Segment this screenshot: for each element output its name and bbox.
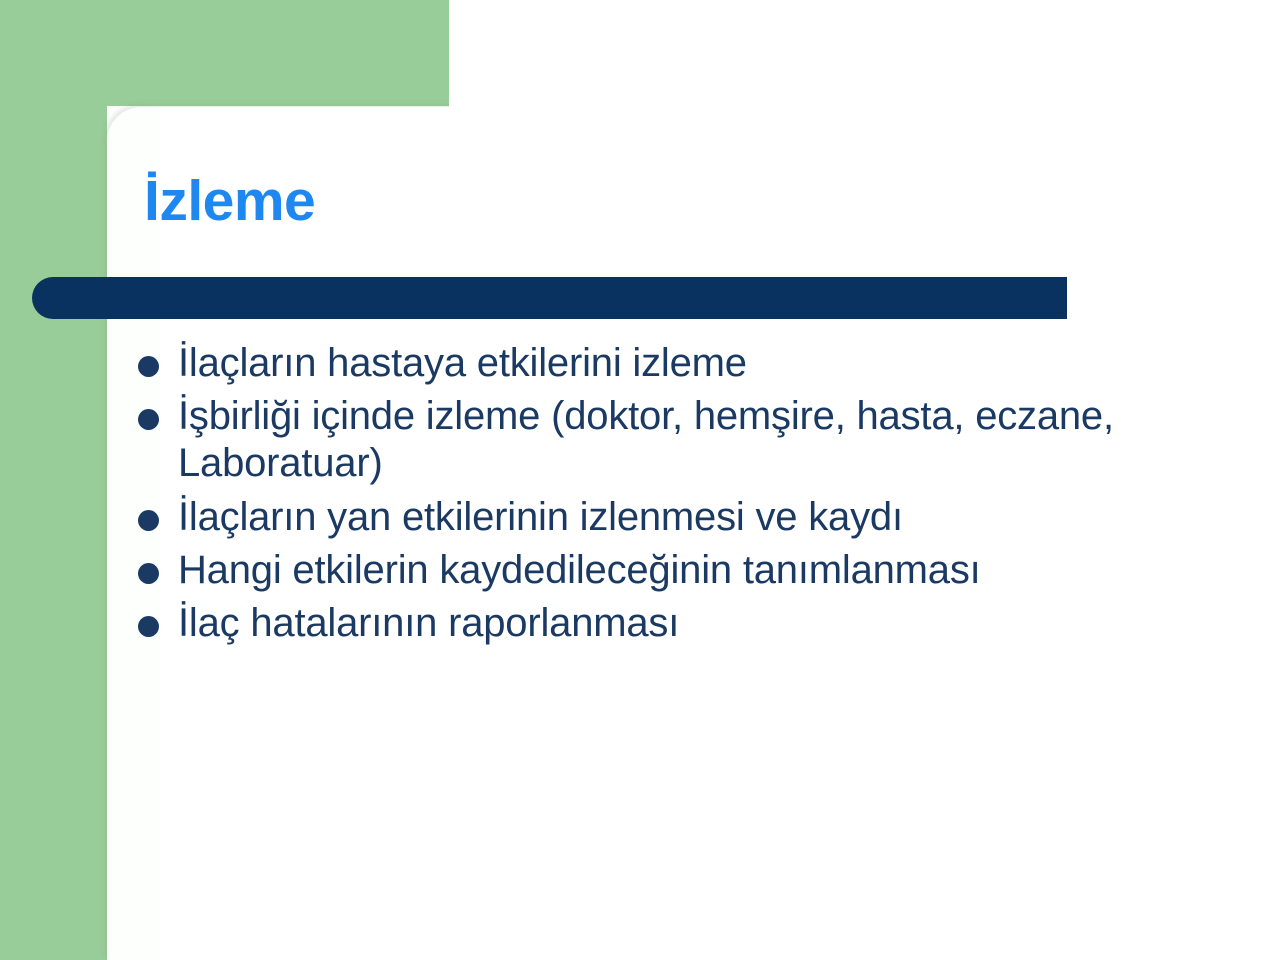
panel-top-right-fill bbox=[449, 0, 1280, 110]
list-item-label: İlaçların hastaya etkilerini izleme bbox=[178, 340, 1250, 387]
list-item-label: İlaç hatalarının raporlanması bbox=[178, 600, 1250, 647]
bullet-dot-icon bbox=[138, 409, 159, 430]
bullet-dot-icon bbox=[138, 510, 159, 531]
list-item: İlaçların hastaya etkilerini izleme bbox=[130, 340, 1250, 387]
list-item-label: İlaçların yan etkilerinin izlenmesi ve k… bbox=[178, 494, 1250, 541]
list-item-label: Hangi etkilerin kaydedileceğinin tanımla… bbox=[178, 547, 1233, 594]
left-green-accent-panel bbox=[0, 0, 107, 960]
slide-title: İzleme bbox=[144, 172, 315, 232]
title-divider-bar bbox=[32, 277, 1067, 319]
bullet-dot-icon bbox=[138, 563, 159, 584]
list-item: Hangi etkilerin kaydedileceğinin tanımla… bbox=[130, 547, 1250, 594]
presentation-slide: İzleme İlaçların hastaya etkilerini izle… bbox=[0, 0, 1280, 960]
bullet-list: İlaçların hastaya etkilerini izleme İşbi… bbox=[130, 340, 1250, 653]
list-item: İlaçların yan etkilerinin izlenmesi ve k… bbox=[130, 494, 1250, 541]
top-green-accent-band bbox=[0, 0, 449, 106]
bullet-dot-icon bbox=[138, 356, 159, 377]
list-item: İşbirliği içinde izleme (doktor, hemşire… bbox=[130, 393, 1250, 487]
list-item: İlaç hatalarının raporlanması bbox=[130, 600, 1250, 647]
bullet-dot-icon bbox=[138, 616, 159, 637]
list-item-label: İşbirliği içinde izleme (doktor, hemşire… bbox=[178, 393, 1233, 487]
